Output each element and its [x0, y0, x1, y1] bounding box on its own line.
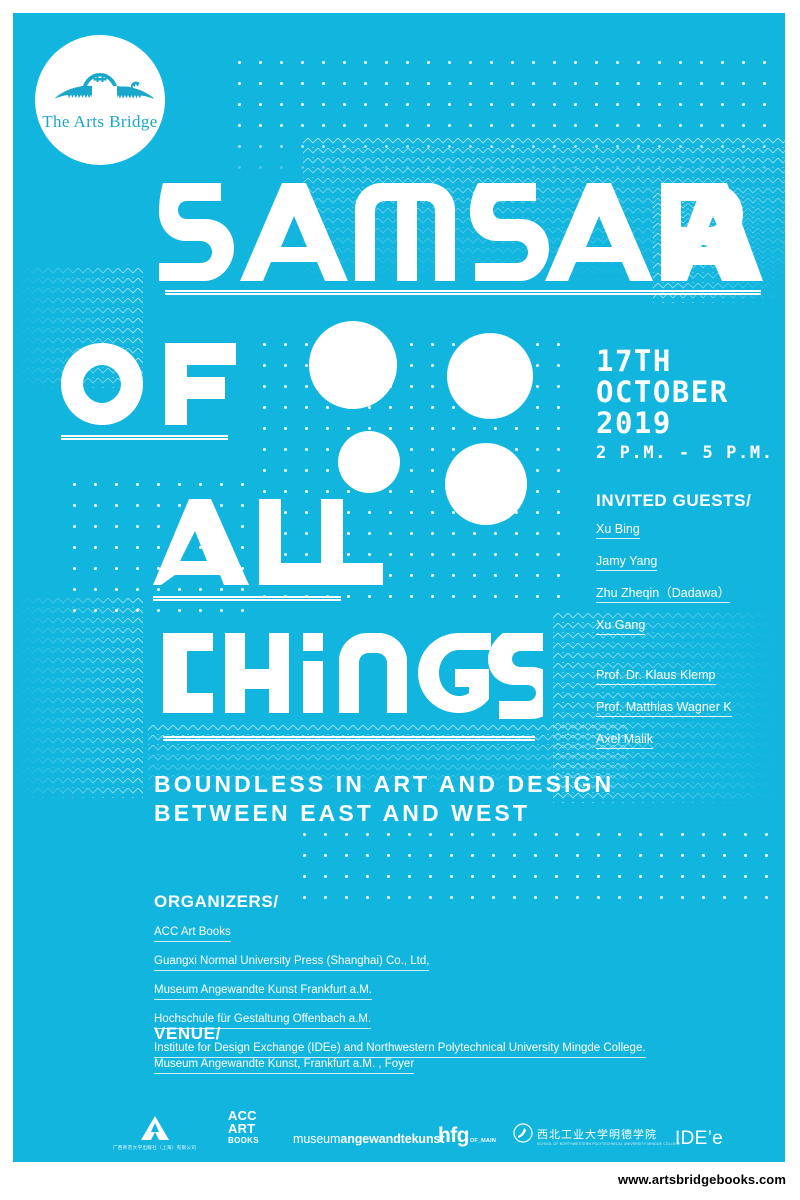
organizer-row: Guangxi Normal University Press (Shangha… [154, 951, 714, 980]
hfg-sub: OF_MAIN [470, 1138, 496, 1144]
ide-e-logo[interactable]: IDE’e [675, 1128, 723, 1150]
event-date-block: 17TH OCTOBER 2019 2 P.M. - 5 P.M. [596, 346, 785, 465]
crosshatch-pattern-left-lower [13, 598, 143, 798]
logo-wordmark: The Arts Bridge [42, 112, 158, 132]
npu-english-name: SCHOOL OF NORTHWESTERN POLYTECHNICAL UNI… [537, 1142, 681, 1146]
guest-name: Jamy Yang [596, 554, 657, 571]
bridge-icon [46, 69, 154, 111]
event-month: OCTOBER [596, 377, 785, 408]
title-of [61, 343, 236, 425]
rule-under-things [163, 736, 535, 741]
subtitle-line-1: BOUNDLESS IN ART AND DESIGN [154, 770, 614, 799]
venue-row: Museum Angewandte Kunst, Frankfurt a.M. … [154, 1054, 714, 1083]
venue-block: VENUE/ Museum Angewandte Kunst, Frankfur… [154, 1024, 714, 1083]
guest-name: Zhu Zheqin（Dadawa） [596, 586, 730, 603]
title-all [153, 499, 383, 585]
event-time: 2 P.M. - 5 P.M. [596, 441, 785, 465]
circle-top-left [309, 321, 397, 409]
organizer-name: Museum Angewandte Kunst Frankfurt a.M. [154, 984, 372, 1000]
organizer-name: Guangxi Normal University Press (Shangha… [154, 955, 429, 971]
guest-row: Xu Bing [596, 520, 785, 552]
partner-logo-strip: 广西师范大学出版社（上海）有限公司 ACC ART BOOKS museuman… [113, 1108, 733, 1162]
mak-part-1: museum [293, 1132, 340, 1146]
venue-heading: VENUE/ [154, 1024, 714, 1044]
mountain-triangle-icon [141, 1116, 169, 1145]
organizers-heading: ORGANIZERS/ [154, 892, 714, 912]
invited-guests-block: INVITED GUESTS/ Xu Bing Jamy Yang Zhu Zh… [596, 491, 785, 762]
guest-row: Xu Gang [596, 616, 785, 648]
poster-subtitle: BOUNDLESS IN ART AND DESIGN BETWEEN EAST… [154, 770, 614, 828]
dot-grid-pattern-top [238, 61, 783, 181]
invited-guests-heading: INVITED GUESTS/ [596, 491, 785, 511]
acc-line-2: ART [228, 1123, 255, 1136]
title-samsara-last-a [667, 183, 763, 281]
museum-angewandte-kunst-logo[interactable]: museumangewandtekunst [293, 1132, 444, 1146]
acc-line-3: BOOKS [228, 1135, 259, 1148]
guest-name: Prof. Matthias Wagner K [596, 700, 732, 717]
guest-name: Xu Bing [596, 522, 640, 539]
venue-name: Museum Angewandte Kunst, Frankfurt a.M. … [154, 1058, 414, 1074]
guest-row: Jamy Yang [596, 552, 785, 584]
subtitle-line-2: BETWEEN EAST AND WEST [154, 799, 614, 828]
organizer-row: Museum Angewandte Kunst Frankfurt a.M. [154, 980, 714, 1009]
hfg-main: hfg [438, 1124, 469, 1148]
hfg-offenbach-logo[interactable]: hfg OF_MAIN [438, 1124, 496, 1148]
poster-canvas: The Arts Bridge [13, 13, 785, 1162]
circle-top-right [447, 333, 533, 419]
guangxi-normal-university-press-logo[interactable]: 广西师范大学出版社（上海）有限公司 [113, 1116, 196, 1151]
acc-art-books-logo[interactable]: ACC ART BOOKS [228, 1110, 259, 1148]
guest-group-separator [596, 648, 785, 666]
rule-under-all [153, 596, 341, 601]
guest-row: Zhu Zheqin（Dadawa） [596, 584, 785, 616]
event-day: 17TH [596, 346, 785, 377]
guangxi-press-chinese-name: 广西师范大学出版社（上海）有限公司 [113, 1145, 196, 1151]
event-year: 2019 [596, 408, 785, 439]
website-url[interactable]: www.artsbridgebooks.com [618, 1172, 786, 1187]
guest-row: Prof. Matthias Wagner K [596, 698, 785, 730]
guest-row: Axel Malik [596, 730, 785, 762]
rule-under-of [61, 435, 228, 440]
npu-mingde-college-logo[interactable]: 西北工业大学明德学院 SCHOOL OF NORTHWESTERN POLYTE… [513, 1123, 681, 1148]
rule-under-samsara [165, 290, 761, 295]
circle-mid-right [445, 443, 527, 525]
guest-name: Axel Malik [596, 732, 653, 749]
title-things [163, 633, 543, 731]
organizer-name: ACC Art Books [154, 926, 231, 942]
guest-row: Prof. Dr. Klaus Klemp [596, 666, 785, 698]
circle-mid-left [338, 431, 400, 493]
organizer-row: ACC Art Books [154, 922, 714, 951]
mak-part-2: angewandtekunst [340, 1132, 444, 1146]
guest-name: Prof. Dr. Klaus Klemp [596, 668, 716, 685]
the-arts-bridge-logo[interactable]: The Arts Bridge [35, 35, 165, 165]
guest-name: Xu Gang [596, 618, 645, 635]
seal-icon [513, 1123, 533, 1148]
ide-e-text: IDE’e [675, 1128, 723, 1150]
npu-chinese-name: 西北工业大学明德学院 [537, 1126, 681, 1142]
